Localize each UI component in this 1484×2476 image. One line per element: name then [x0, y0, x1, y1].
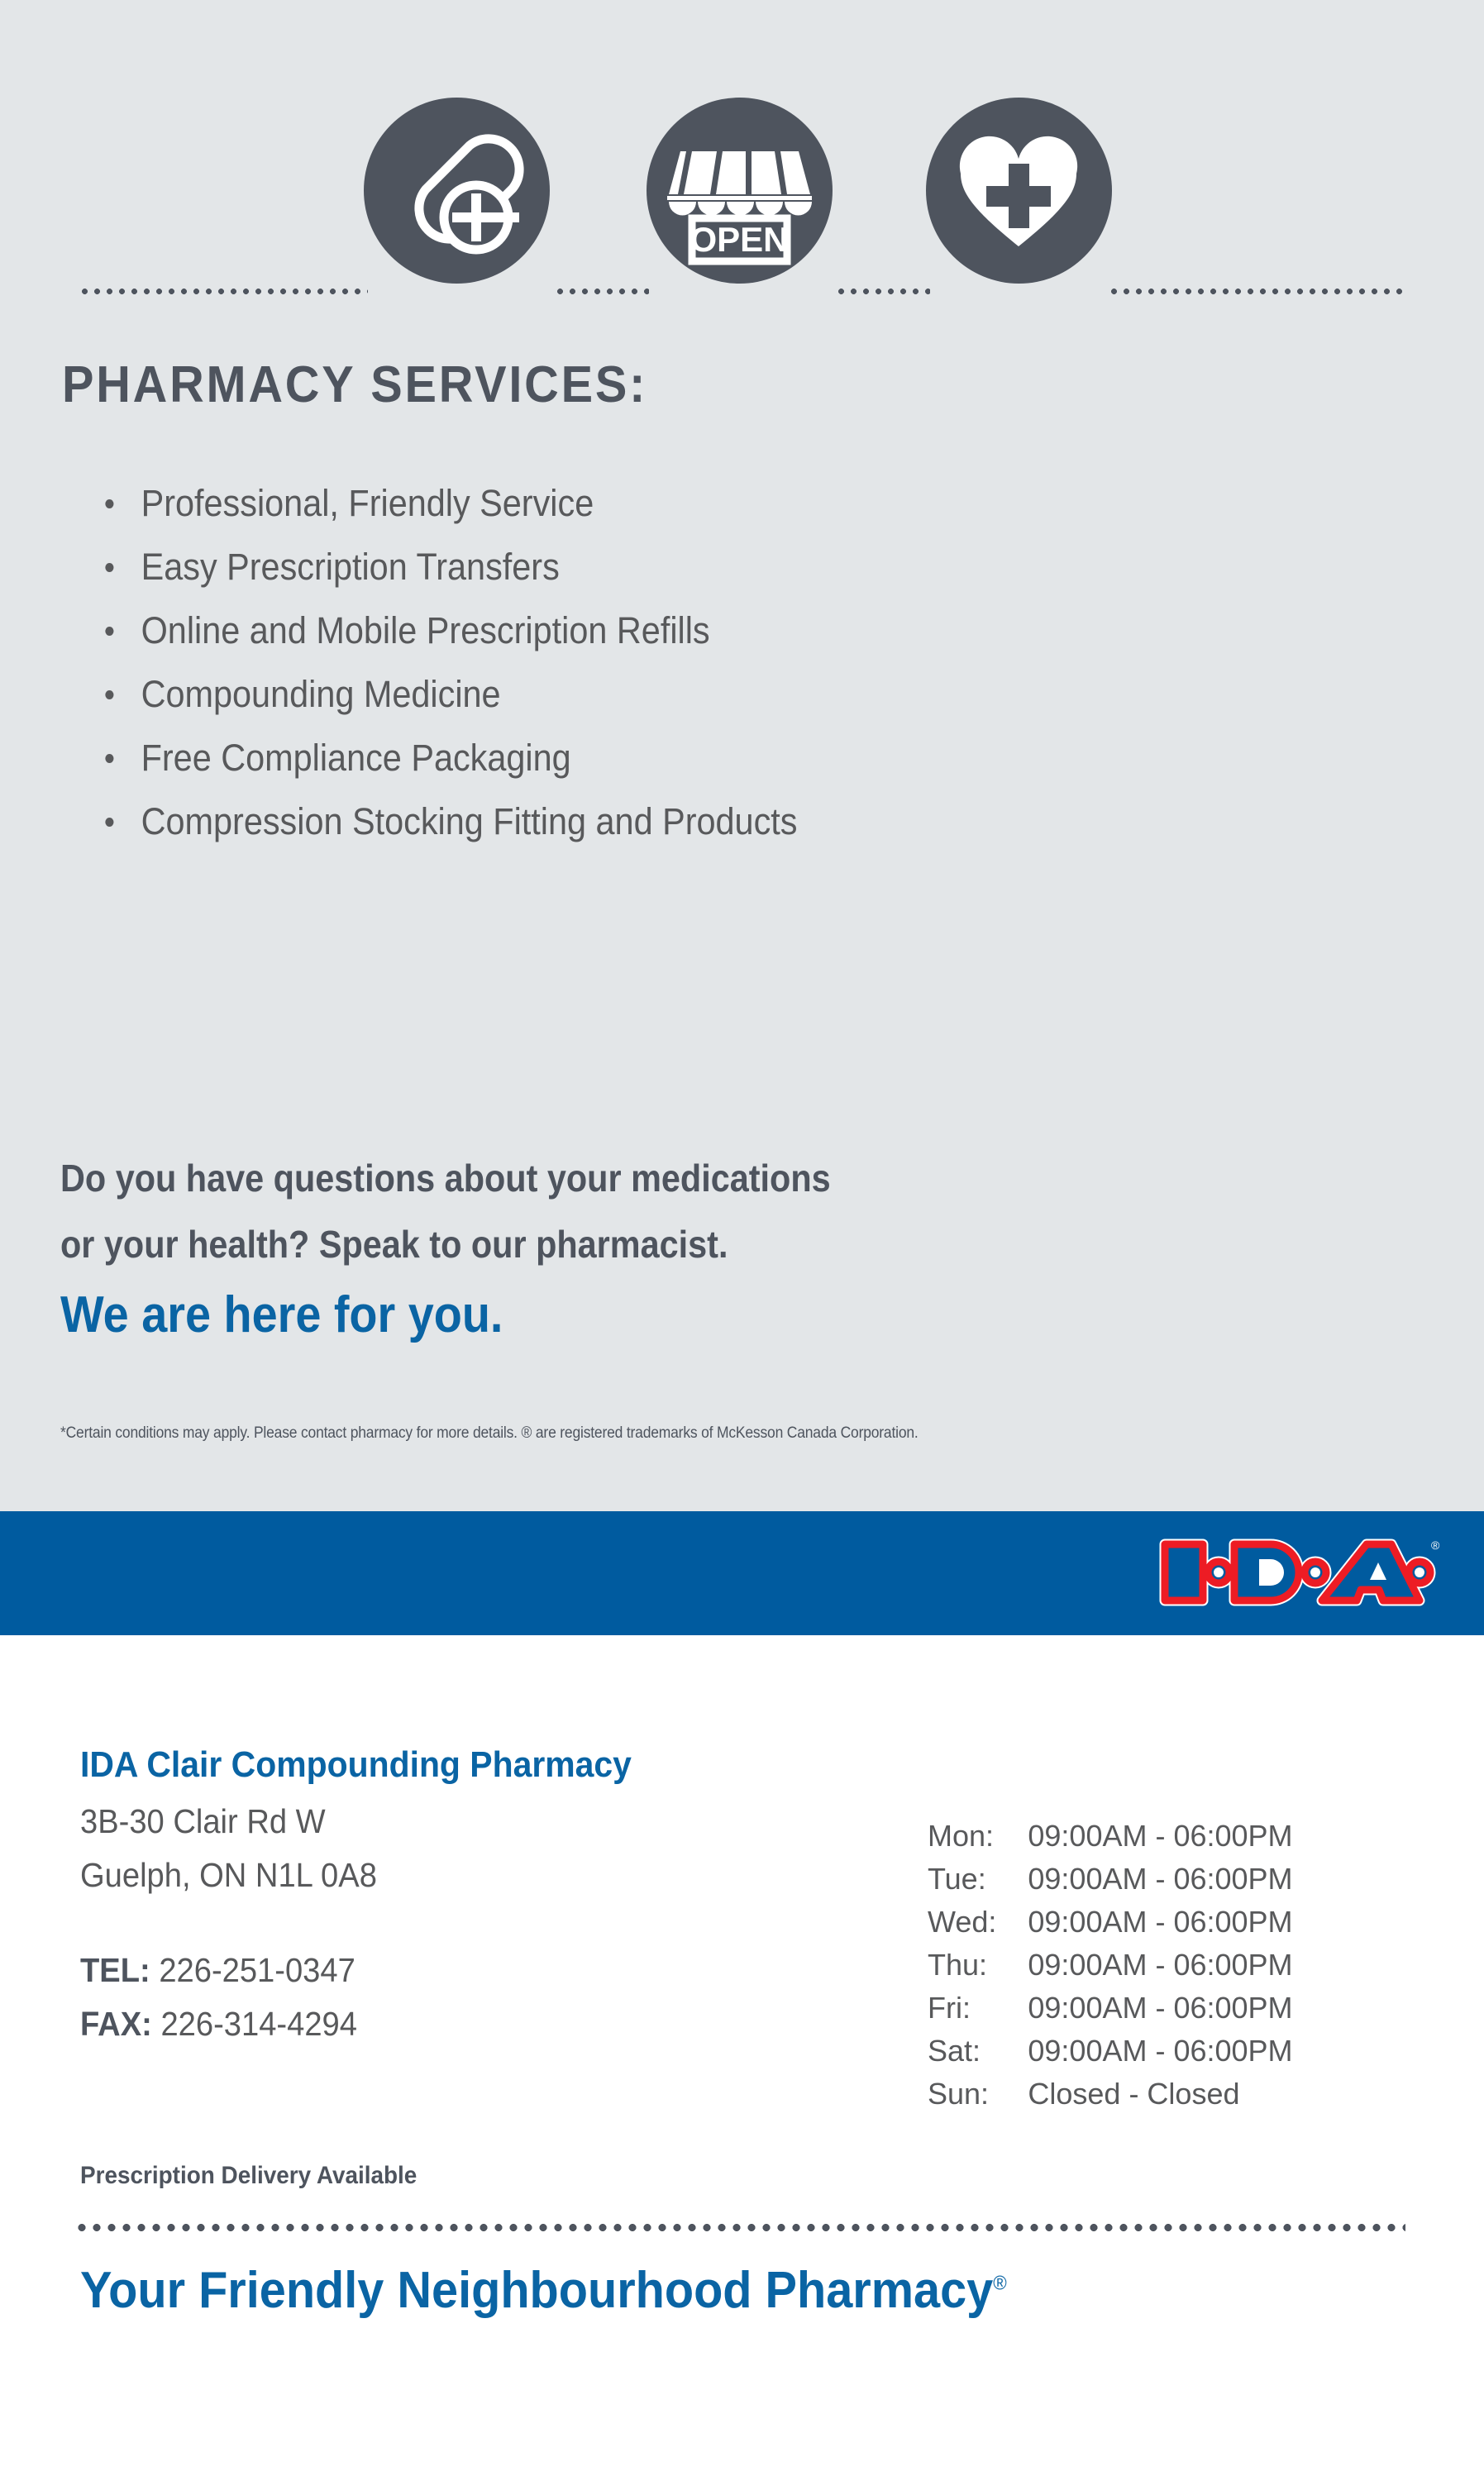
registered-mark: ® — [1431, 1539, 1440, 1552]
hours-time: 09:00AM - 06:00PM — [1028, 1987, 1292, 2030]
service-label: Easy Prescription Transfers — [141, 546, 560, 588]
question-line-2: or your health? Speak to our pharmacist. — [60, 1211, 831, 1277]
hours-day: Fri: — [928, 1987, 1028, 2030]
table-row: Fri: 09:00AM - 06:00PM — [928, 1987, 1293, 2030]
service-label: Free Compliance Packaging — [141, 737, 571, 779]
hours-time: 09:00AM - 06:00PM — [1028, 1901, 1292, 1944]
footer-tagline: Your Friendly Neighbourhood Pharmacy® — [80, 2261, 1007, 2320]
registered-mark-icon: ® — [993, 2272, 1006, 2294]
fax-row: FAX: 226-314-4294 — [80, 2005, 357, 2044]
service-label: Compression Stocking Fitting and Product… — [141, 800, 798, 842]
store-address-line-1: 3B-30 Clair Rd W — [80, 1802, 326, 1841]
bullet-icon — [105, 499, 113, 508]
icon-strip: OPEN — [0, 98, 1484, 284]
service-label: Professional, Friendly Service — [141, 482, 594, 524]
page-title: PHARMACY SERVICES: — [62, 355, 647, 414]
bullet-icon — [105, 754, 113, 763]
disclaimer-text: *Certain conditions may apply. Please co… — [60, 1424, 919, 1443]
store-hours-table: Mon: 09:00AM - 06:00PM Tue: 09:00AM - 06… — [928, 1815, 1293, 2116]
table-row: Thu: 09:00AM - 06:00PM — [928, 1944, 1293, 1987]
telephone-row: TEL: 226-251-0347 — [80, 1951, 355, 1990]
open-sign-label: OPEN — [690, 220, 788, 259]
here-for-you-tagline: We are here for you. — [60, 1286, 503, 1344]
bullet-icon — [105, 818, 113, 827]
hours-day: Wed: — [928, 1901, 1028, 1944]
hours-time: 09:00AM - 06:00PM — [1028, 2030, 1292, 2073]
service-label: Compounding Medicine — [141, 673, 501, 715]
footer-dotted-divider — [74, 2224, 1405, 2231]
list-item: Professional, Friendly Service — [99, 471, 797, 535]
hours-time: 09:00AM - 06:00PM — [1028, 1858, 1292, 1901]
bullet-icon — [105, 563, 113, 572]
question-line-1: Do you have questions about your medicat… — [60, 1145, 831, 1211]
dotted-rule-left — [79, 289, 368, 294]
services-list: Professional, Friendly Service Easy Pres… — [99, 471, 858, 853]
dotted-rule-mid-right — [835, 289, 930, 294]
table-row: Tue: 09:00AM - 06:00PM — [928, 1858, 1293, 1901]
service-label: Online and Mobile Prescription Refills — [141, 609, 710, 651]
list-item: Free Compliance Packaging — [99, 726, 797, 790]
dotted-rule-mid-left — [554, 289, 649, 294]
store-address-line-2: Guelph, ON N1L 0A8 — [80, 1856, 377, 1895]
hours-day: Thu: — [928, 1944, 1028, 1987]
table-row: Sat: 09:00AM - 06:00PM — [928, 2030, 1293, 2073]
footer-tagline-text: Your Friendly Neighbourhood Pharmacy — [80, 2262, 993, 2319]
fax-value[interactable]: 226-314-4294 — [160, 2005, 356, 2043]
hours-day: Sun: — [928, 2073, 1028, 2116]
services-panel: OPEN PHARMACY SERVICES: Professional, Fr… — [0, 0, 1484, 1511]
storefront-open-sign-icon: OPEN — [647, 98, 833, 284]
list-item: Compression Stocking Fitting and Product… — [99, 790, 797, 853]
ida-logo: ® — [1153, 1526, 1443, 1619]
list-item: Compounding Medicine — [99, 662, 797, 726]
table-row: Wed: 09:00AM - 06:00PM — [928, 1901, 1293, 1944]
pill-capsule-plus-icon — [364, 98, 550, 284]
question-block: Do you have questions about your medicat… — [60, 1145, 831, 1277]
table-row: Mon: 09:00AM - 06:00PM — [928, 1815, 1293, 1858]
hours-day: Sat: — [928, 2030, 1028, 2073]
hours-day: Tue: — [928, 1858, 1028, 1901]
brand-band: ® — [0, 1511, 1484, 1635]
fax-label: FAX: — [80, 2005, 152, 2043]
table-row: Sun: Closed - Closed — [928, 2073, 1293, 2116]
list-item: Online and Mobile Prescription Refills — [99, 599, 797, 662]
hours-time: 09:00AM - 06:00PM — [1028, 1815, 1292, 1858]
dotted-rule-right — [1108, 289, 1405, 294]
hours-time: 09:00AM - 06:00PM — [1028, 1944, 1292, 1987]
bullet-icon — [105, 690, 113, 699]
store-name: IDA Clair Compounding Pharmacy — [80, 1744, 632, 1786]
telephone-label: TEL: — [80, 1951, 150, 1989]
telephone-value[interactable]: 226-251-0347 — [159, 1951, 355, 1989]
bullet-icon — [105, 627, 113, 636]
delivery-note: Prescription Delivery Available — [80, 2162, 417, 2190]
hours-day: Mon: — [928, 1815, 1028, 1858]
heart-plus-icon — [926, 98, 1112, 284]
list-item: Easy Prescription Transfers — [99, 535, 797, 599]
hours-time: Closed - Closed — [1028, 2073, 1292, 2116]
